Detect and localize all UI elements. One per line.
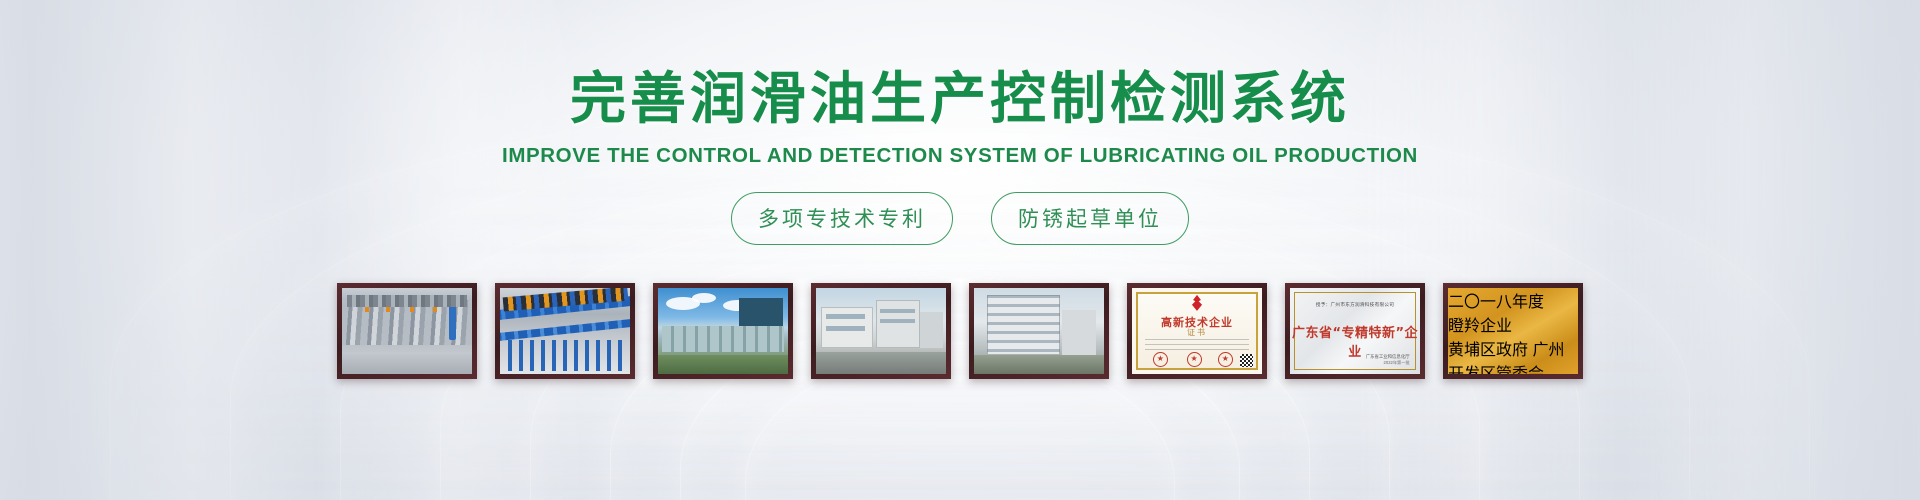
- thumbnail-image: [974, 288, 1104, 374]
- gallery-item-photo-factory-buildings[interactable]: [811, 283, 951, 379]
- plaque-title: 瞪羚企业: [1448, 312, 1578, 336]
- plaque-year: 二〇一八年度: [1448, 288, 1578, 312]
- gallery-item-photo-storage-tanks[interactable]: [653, 283, 793, 379]
- gallery-item-plaque-gazelle-enterprise[interactable]: 二〇一八年度 瞪羚企业 黄埔区政府 广州开发区管委会 2018年12月: [1443, 283, 1583, 379]
- gallery-item-photo-blue-pipe-manifold[interactable]: [495, 283, 635, 379]
- gallery-item-plaque-specialized-new-enterprise[interactable]: 授予：广州市东方润滑科技有限公司 广东省“专精特新”企业 广东省工业和信息化厅 …: [1285, 283, 1425, 379]
- page-title: 完善润滑油生产控制检测系统: [570, 54, 1350, 135]
- pill-patents[interactable]: 多项专技术专利: [731, 192, 953, 245]
- page-subtitle: IMPROVE THE CONTROL AND DETECTION SYSTEM…: [502, 144, 1418, 168]
- gallery-item-photo-office-building[interactable]: [969, 283, 1109, 379]
- pill-antirust-standard[interactable]: 防锈起草单位: [991, 192, 1189, 245]
- thumbnail-image: 高新技术企业 证书: [1132, 288, 1262, 374]
- thumbnail-image: [500, 288, 630, 374]
- credential-gallery: 高新技术企业 证书 授予：广州市东方润滑科技有限公司: [337, 283, 1583, 379]
- certificate-subtitle: 证书: [1132, 327, 1262, 338]
- plaque-issuer: 黄埔区政府 广州开发区管委会: [1448, 336, 1578, 374]
- gallery-item-cert-high-tech-enterprise[interactable]: 高新技术企业 证书: [1127, 283, 1267, 379]
- gallery-item-photo-production-line[interactable]: [337, 283, 477, 379]
- thumbnail-image: [658, 288, 788, 374]
- thumbnail-image: [342, 288, 472, 374]
- hero-banner: 完善润滑油生产控制检测系统 IMPROVE THE CONTROL AND DE…: [0, 0, 1920, 500]
- thumbnail-image: [816, 288, 946, 374]
- plaque-date: 2022年第一批: [1300, 360, 1409, 366]
- qr-code-icon: [1240, 354, 1253, 367]
- thumbnail-image: 授予：广州市东方润滑科技有限公司 广东省“专精特新”企业 广东省工业和信息化厅 …: [1290, 288, 1420, 374]
- plaque-recipient: 授予：广州市东方润滑科技有限公司: [1300, 302, 1409, 308]
- feature-pill-group: 多项专技术专利 防锈起草单位: [731, 192, 1189, 245]
- thumbnail-image: 二〇一八年度 瞪羚企业 黄埔区政府 广州开发区管委会 2018年12月: [1448, 288, 1578, 374]
